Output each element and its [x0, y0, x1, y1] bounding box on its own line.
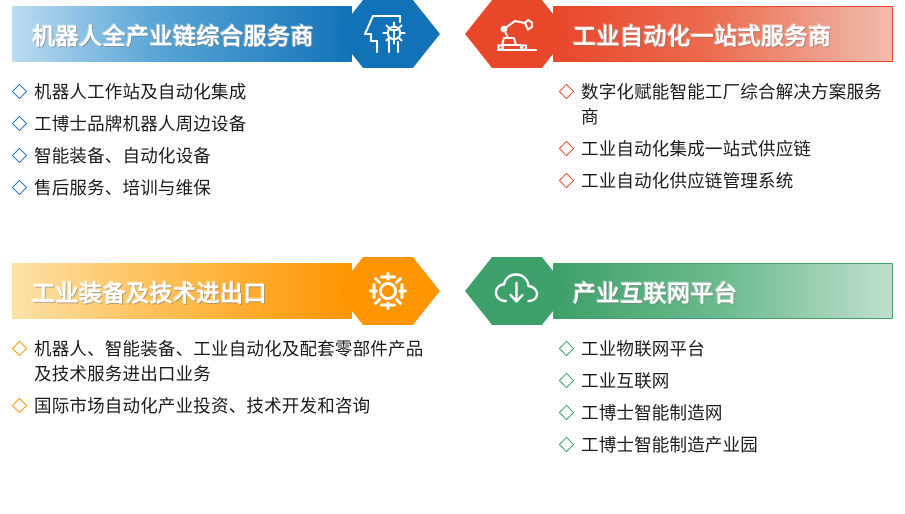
diamond-bullet-icon — [12, 147, 28, 163]
diamond-bullet-icon — [12, 179, 28, 195]
bullet-list: 机器人、智能装备、工业自动化及配套零部件产品及技术服务进出口业务 国际市场自动化… — [0, 337, 452, 419]
list-item-label: 机器人、智能装备、工业自动化及配套零部件产品及技术服务进出口业务 — [34, 337, 438, 387]
list-item-label: 工业自动化集成一站式供应链 — [581, 137, 811, 162]
list-item: 数字化赋能智能工厂综合解决方案服务商 — [561, 80, 891, 130]
bullet-list: 机器人工作站及自动化集成 工博士品牌机器人周边设备 智能装备、自动化设备 售后服… — [0, 80, 452, 200]
section-title: 工业自动化一站式服务商 — [573, 17, 832, 51]
list-item: 国际市场自动化产业投资、技术开发和咨询 — [14, 394, 438, 419]
diamond-bullet-icon — [559, 140, 575, 156]
list-item-label: 数字化赋能智能工厂综合解决方案服务商 — [581, 80, 891, 130]
diamond-bullet-icon — [559, 436, 575, 452]
section-banner: 机器人全产业链综合服务商 — [12, 0, 440, 68]
diamond-bullet-icon — [559, 172, 575, 188]
section-banner: 产业互联网平台 — [465, 257, 893, 325]
list-item: 工业自动化集成一站式供应链 — [561, 137, 891, 162]
list-item-label: 国际市场自动化产业投资、技术开发和咨询 — [34, 394, 370, 419]
section-industrial-automation: 工业自动化一站式服务商 数字化赋能智能工厂综合解决方案服务商 工业自动化集成一站… — [453, 0, 905, 257]
diamond-bullet-icon — [559, 373, 575, 389]
list-item-label: 工业互联网 — [581, 369, 670, 394]
bullet-list: 数字化赋能智能工厂综合解决方案服务商 工业自动化集成一站式供应链 工业自动化供应… — [453, 80, 905, 193]
list-item: 智能装备、自动化设备 — [14, 144, 438, 169]
diamond-bullet-icon — [559, 341, 575, 357]
section-title: 工业装备及技术进出口 — [32, 274, 267, 308]
list-item-label: 工博士品牌机器人周边设备 — [34, 112, 246, 137]
list-item-label: 工业自动化供应链管理系统 — [581, 169, 793, 194]
section-title: 机器人全产业链综合服务商 — [32, 17, 314, 51]
service-offerings-board: 机器人全产业链综合服务商 机器人工作站及自动化集成 — [0, 0, 905, 514]
list-item: 工博士品牌机器人周边设备 — [14, 112, 438, 137]
diamond-bullet-icon — [559, 404, 575, 420]
list-item-label: 智能装备、自动化设备 — [34, 144, 211, 169]
list-item-label: 机器人工作站及自动化集成 — [34, 80, 246, 105]
list-item: 机器人工作站及自动化集成 — [14, 80, 438, 105]
list-item: 工业物联网平台 — [561, 337, 891, 362]
diamond-bullet-icon — [559, 84, 575, 100]
list-item-label: 工业物联网平台 — [581, 337, 705, 362]
section-title: 产业互联网平台 — [573, 274, 738, 308]
diamond-bullet-icon — [12, 84, 28, 100]
diamond-bullet-icon — [12, 397, 28, 413]
diamond-bullet-icon — [12, 341, 28, 357]
list-item: 工博士智能制造产业园 — [561, 433, 891, 458]
section-equipment-import-export: 工业装备及技术进出口 机器人、智能装备、工业自动化及配套零部件产品及技术服务进出… — [0, 257, 452, 514]
list-item-label: 工博士智能制造网 — [581, 401, 723, 426]
list-item-label: 售后服务、培训与维保 — [34, 176, 211, 201]
section-banner: 工业自动化一站式服务商 — [465, 0, 893, 68]
list-item: 工业自动化供应链管理系统 — [561, 169, 891, 194]
list-item: 工业互联网 — [561, 369, 891, 394]
section-industrial-internet-platform: 产业互联网平台 工业物联网平台 工业互联网 工博士智能制造网 工博士智能制造产业… — [453, 257, 905, 514]
diamond-bullet-icon — [12, 116, 28, 132]
list-item: 工博士智能制造网 — [561, 401, 891, 426]
section-robot-full-chain: 机器人全产业链综合服务商 机器人工作站及自动化集成 — [0, 0, 452, 257]
list-item: 售后服务、培训与维保 — [14, 176, 438, 201]
section-banner: 工业装备及技术进出口 — [12, 257, 440, 325]
list-item: 机器人、智能装备、工业自动化及配套零部件产品及技术服务进出口业务 — [14, 337, 438, 387]
bullet-list: 工业物联网平台 工业互联网 工博士智能制造网 工博士智能制造产业园 — [453, 337, 905, 457]
list-item-label: 工博士智能制造产业园 — [581, 433, 758, 458]
